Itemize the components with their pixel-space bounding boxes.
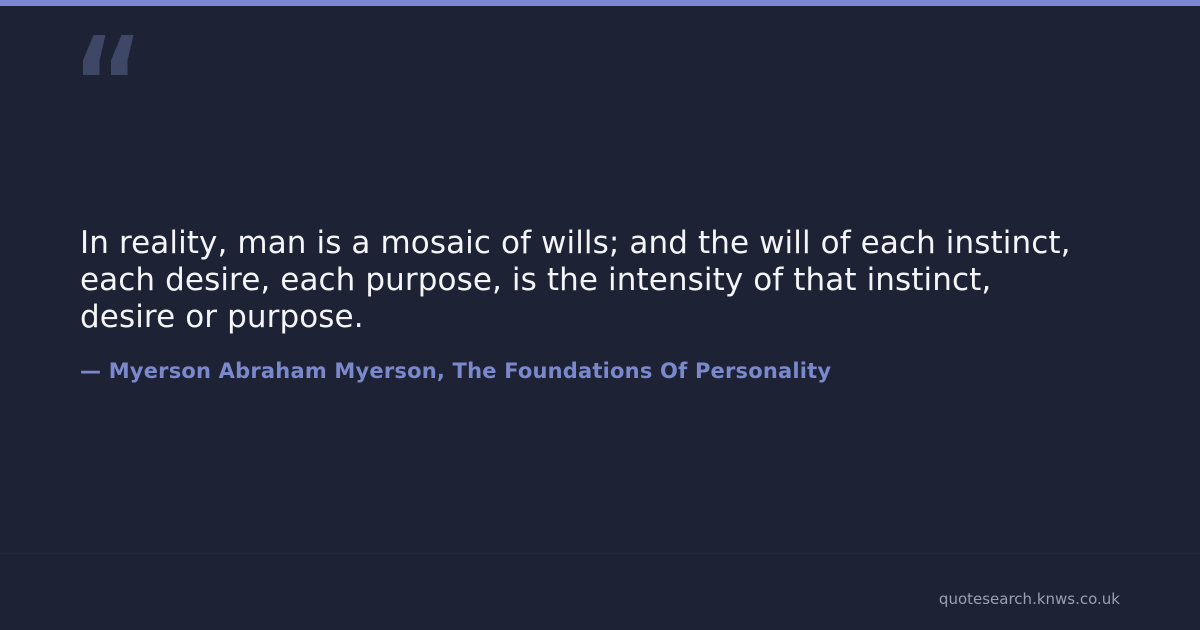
quote-card: In reality, man is a mosaic of wills; an… bbox=[0, 0, 1200, 630]
quote-line: desire or purpose. bbox=[80, 299, 1120, 336]
footer-divider bbox=[0, 553, 1200, 554]
quote-attribution: — Myerson Abraham Myerson, The Foundatio… bbox=[80, 357, 831, 385]
quote-text: In reality, man is a mosaic of wills; an… bbox=[80, 225, 1120, 336]
quote-line: In reality, man is a mosaic of wills; an… bbox=[80, 225, 1120, 262]
quote-line: each desire, each purpose, is the intens… bbox=[80, 262, 1120, 299]
site-url-label: quotesearch.knws.co.uk bbox=[939, 589, 1120, 609]
double-quote-open-icon bbox=[80, 32, 136, 78]
top-accent-bar bbox=[0, 0, 1200, 6]
